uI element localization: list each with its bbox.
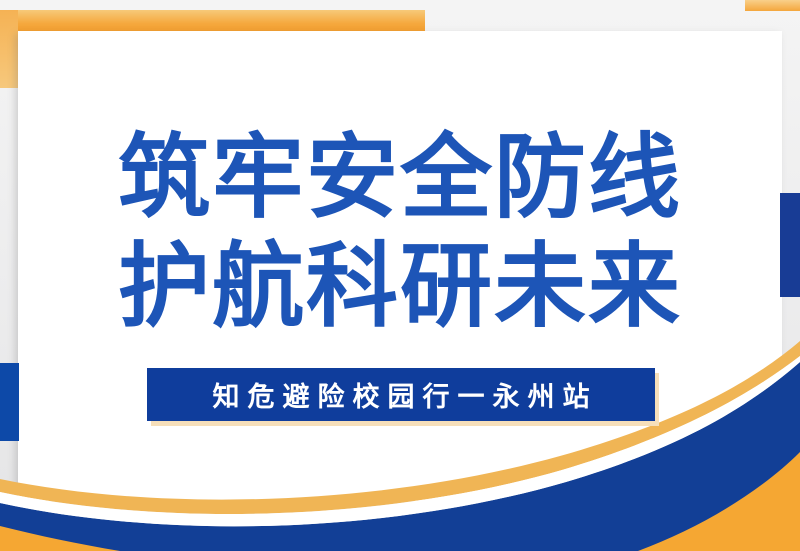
subtitle-ribbon: 知危避险校园行一永州站 [147, 368, 655, 421]
top-right-orange-accent-bar [745, 0, 800, 11]
subtitle-ribbon-bar: 知危避险校园行一永州站 [147, 368, 655, 421]
subtitle-text: 知危避险校园行一永州站 [205, 375, 598, 414]
poster-headline: 筑牢安全防线 护航科研未来 [0, 132, 800, 333]
poster-canvas: 筑牢安全防线 护航科研未来 知危避险校园行一永州站 [0, 0, 800, 551]
headline-line-1: 筑牢安全防线 [0, 132, 800, 224]
left-blue-accent-block [0, 363, 19, 441]
headline-line-2: 护航科研未来 [0, 241, 800, 333]
left-orange-accent-edge [0, 10, 18, 88]
